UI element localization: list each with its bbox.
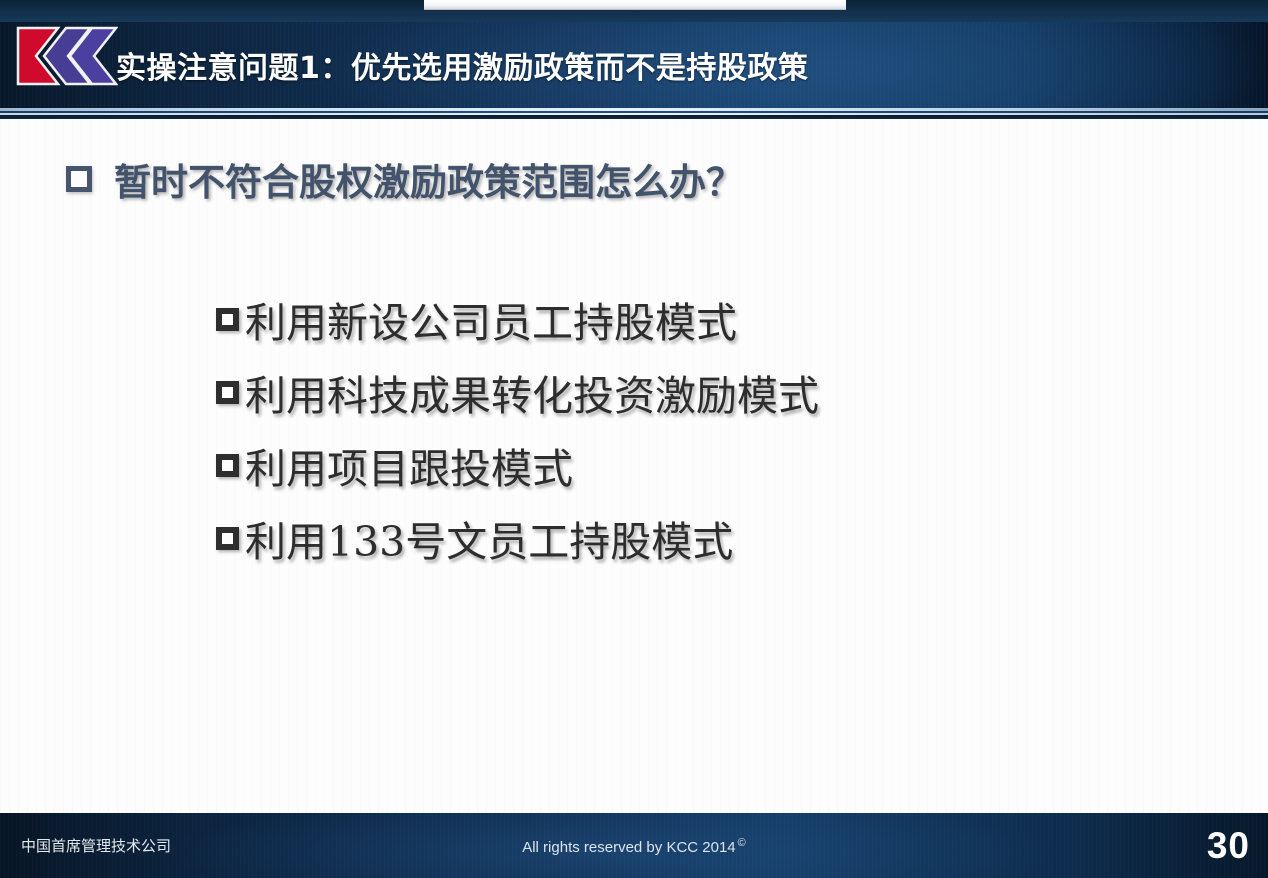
header-divider [0, 108, 1268, 119]
kcc-chevron-logo-icon [14, 26, 118, 86]
list-item-label: 利用项目跟投模式 [245, 435, 573, 495]
footer-rights-text: All rights reserved by KCC 2014 [522, 839, 735, 856]
list-item-label: 利用新设公司员工持股模式 [245, 289, 737, 349]
slide-footer: 中国首席管理技术公司 All rights reserved by KCC 20… [0, 813, 1268, 878]
square-bullet-icon [216, 308, 239, 331]
square-bullet-icon [216, 454, 239, 477]
list-item: 利用新设公司员工持股模式 [216, 289, 819, 349]
level2-bullet-list: 利用新设公司员工持股模式 利用科技成果转化投资激励模式 利用项目跟投模式 利用1… [216, 289, 819, 568]
slide: 实操注意问题1：优先选用激励政策而不是持股政策 暂时不符合股权激励政策范围怎么办… [0, 0, 1268, 878]
top-highlight-bar [424, 0, 846, 10]
copyright-icon: © [738, 837, 746, 849]
page-title: 实操注意问题1：优先选用激励政策而不是持股政策 [116, 22, 808, 108]
slide-content: 暂时不符合股权激励政策范围怎么办？ 利用新设公司员工持股模式 利用科技成果转化投… [0, 119, 1268, 813]
hollow-square-bullet-icon [66, 166, 92, 192]
list-item: 利用133号文员工持股模式 [216, 508, 819, 568]
page-number: 30 [1207, 825, 1250, 867]
top-strip [0, 0, 1268, 22]
list-item: 利用项目跟投模式 [216, 435, 819, 495]
square-bullet-icon [216, 381, 239, 404]
list-item-label: 利用科技成果转化投资激励模式 [245, 362, 819, 422]
list-item: 利用科技成果转化投资激励模式 [216, 362, 819, 422]
square-bullet-icon [216, 527, 239, 550]
level1-bullet-item: 暂时不符合股权激励政策范围怎么办？ [66, 152, 743, 206]
footer-rights-label: All rights reserved by KCC 2014© [0, 837, 1268, 856]
level1-bullet-label: 暂时不符合股权激励政策范围怎么办？ [114, 152, 743, 206]
list-item-label: 利用133号文员工持股模式 [245, 508, 733, 568]
